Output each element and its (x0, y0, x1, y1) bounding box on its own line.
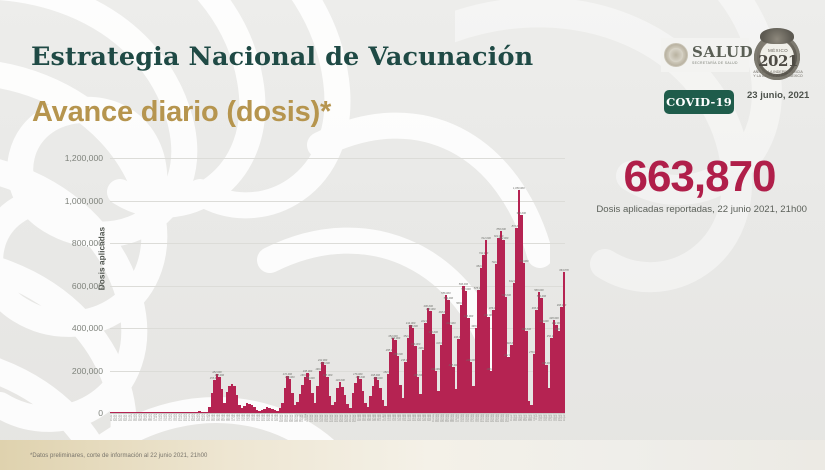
plot-area: 0200,000400,000600,000800,0001,000,0001,… (110, 158, 565, 413)
bar-series: 155,000182,000168,000172,000158,000168,0… (110, 158, 565, 413)
x-axis-tick-labels: 24-dic25-dic26-dic27-dic28-dic29-dic30-d… (110, 414, 565, 436)
bar-value-label: 568,000 (534, 289, 543, 292)
salud-logo: SALUD SECRETARÍA DE SALUD (661, 38, 749, 72)
header-date: 23 junio, 2021 (747, 90, 817, 102)
footnote: *Datos preliminares, corte de informació… (30, 453, 207, 459)
bar-value-label: 156,000 (305, 377, 314, 380)
bar-value-label: 158,000 (285, 376, 294, 379)
bar-value-label: 1,050,000 (513, 187, 525, 190)
bar-value-label: 496,000 (424, 305, 433, 308)
y-axis-tick: 200,000 (72, 366, 103, 376)
bar-value-label: 424,000 (539, 320, 548, 323)
bar-value-label: 344,000 (391, 337, 400, 340)
bar-value-label: 398,000 (408, 325, 417, 328)
y-axis-tick: 1,200,000 (65, 153, 103, 163)
bar-value-label: 708,000 (519, 260, 528, 263)
page-title: Estrategia Nacional de Vacunación (31, 42, 533, 72)
salud-wordmark: SALUD (692, 45, 753, 60)
seal-crest-icon (760, 28, 794, 44)
bar-value-label: 158,000 (356, 376, 365, 379)
seal-label-bottom: AÑO DE LA INDEPENDENCIA Y LA GRANDEZA DE… (752, 70, 804, 79)
bar-value-label: 168,000 (323, 374, 332, 377)
x-axis-tick: 22-jun (563, 414, 566, 436)
y-axis-title: Dosis aplicadas (98, 199, 107, 319)
bar-value-label: 316,000 (411, 343, 420, 346)
bar-value-label: 542,000 (537, 295, 546, 298)
bar-value-label: 412,000 (446, 322, 455, 325)
seal-year: 2021 (752, 52, 804, 70)
y-axis-tick: 1,000,000 (65, 196, 103, 206)
kpi-value: 663,870 (592, 152, 807, 202)
bar-value-label: 932,000 (517, 212, 526, 215)
bar-value-label: 572,000 (461, 288, 470, 291)
bar-value-label: 268,000 (393, 353, 402, 356)
bar-value-label: 228,000 (320, 362, 329, 365)
bar-value-label: 168,000 (215, 374, 224, 377)
bar-value-label: 386,000 (522, 328, 531, 331)
salud-subtext: SECRETARÍA DE SALUD (692, 62, 753, 65)
kpi-caption: Dosis aplicadas reportadas, 22 junio 202… (592, 203, 807, 217)
bar-value-label: 176,000 (353, 373, 362, 376)
y-axis-tick: 0 (98, 408, 103, 418)
bar-value-label: 812,000 (499, 237, 508, 240)
bar-value-label: 188,000 (303, 370, 312, 373)
y-axis-tick: 600,000 (72, 281, 103, 291)
bar-value-label: 146,000 (335, 379, 344, 382)
bar-value-label: 596,000 (459, 283, 468, 286)
bar-value-label: 478,000 (426, 308, 435, 311)
bar-value-label: 548,000 (502, 294, 511, 297)
slide-canvas: Estrategia Nacional de Vacunación Avance… (0, 0, 825, 470)
title-divider (31, 137, 567, 139)
y-axis-tick: 400,000 (72, 323, 103, 333)
y-axis-tick: 800,000 (72, 238, 103, 248)
bar-value-label: 446,000 (464, 315, 473, 318)
covid-19-badge: COVID-19 (664, 90, 734, 114)
commemorative-seal-2021: MÉXICO 2021 AÑO DE LA INDEPENDENCIA Y LA… (752, 26, 804, 82)
bar-value-label: 812,000 (481, 237, 490, 240)
bar-value-label: 156,000 (373, 377, 382, 380)
page-subtitle: Avance diario (dosis)* (32, 96, 331, 129)
bar-value-label: 663,870 (559, 269, 568, 272)
bar-value-label: 438,000 (549, 317, 558, 320)
covid-19-badge-label: COVID-19 (666, 95, 732, 109)
bar-value-label: 372,000 (429, 331, 438, 334)
bar-value-label: 534,000 (444, 297, 453, 300)
bar-value-label: 856,000 (496, 228, 505, 231)
bar: 663,870 (563, 272, 566, 413)
bar-value-label: 556,000 (441, 292, 450, 295)
daily-doses-bar-chart: Dosis aplicadas 0200,000400,000600,00080… (110, 158, 565, 413)
mexico-seal-icon (664, 43, 688, 67)
